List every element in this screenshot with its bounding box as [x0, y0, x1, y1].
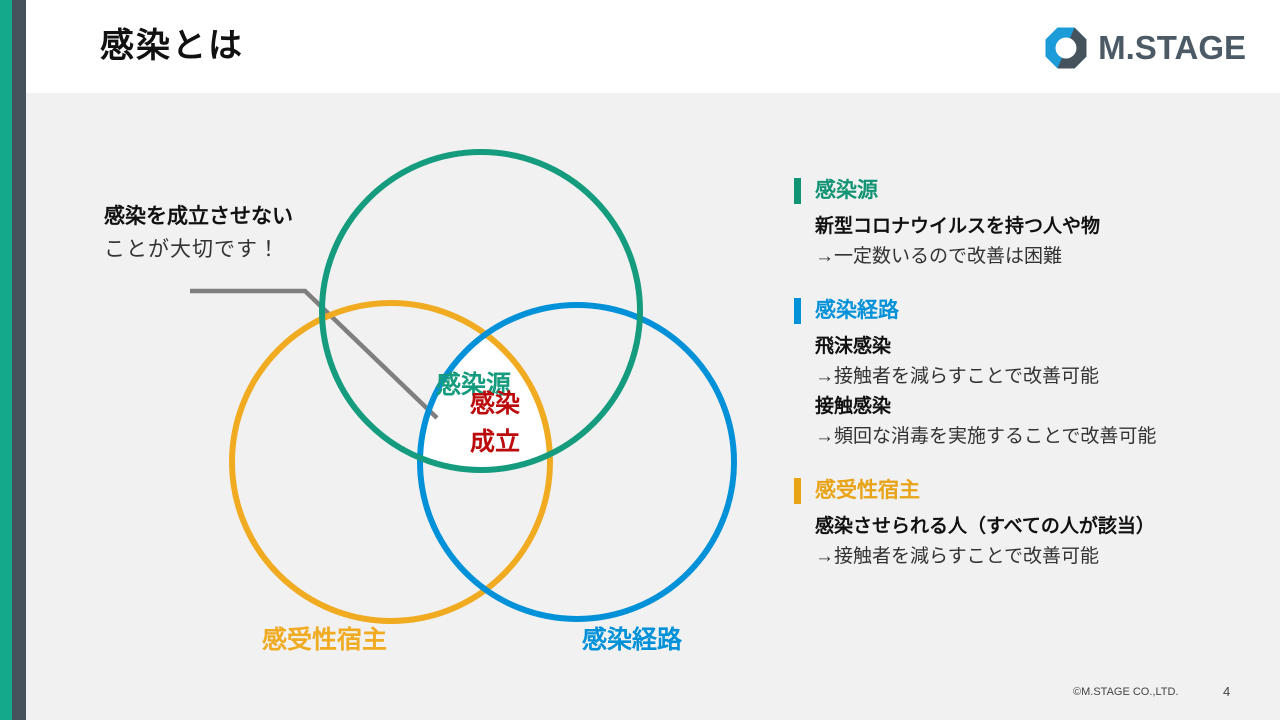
left-edge-accent-slate	[12, 0, 26, 720]
accent-bar-icon	[794, 178, 801, 204]
accent-bar-icon	[794, 478, 801, 504]
venn-label-route: 感染経路	[582, 620, 682, 656]
section-item-sub: →一定数いるので改善は困難	[794, 242, 1264, 272]
section-item-strong: 感染させられる人（すべての人が該当）	[794, 512, 1264, 542]
brand-logo: M.STAGE	[1044, 26, 1246, 70]
callout-line-1: 感染を成立させない	[104, 200, 364, 233]
section-title: 感染源	[815, 178, 878, 204]
footer-page-number: 4	[1223, 684, 1230, 699]
section-title: 感染経路	[815, 298, 899, 324]
panel-section-route: 感染経路 飛沫感染 →接触者を減らすことで改善可能 接触感染 →頻回な消毒を実施…	[794, 298, 1264, 452]
venn-center-line-1: 感染	[445, 385, 545, 423]
callout-line-2: ことが大切です！	[104, 233, 364, 266]
section-item-strong: 飛沫感染	[794, 332, 1264, 362]
callout-text: 感染を成立させない ことが大切です！	[104, 200, 364, 266]
panel-section-host: 感受性宿主 感染させられる人（すべての人が該当） →接触者を減らすことで改善可能	[794, 478, 1264, 572]
section-item-strong: 新型コロナウイルスを持つ人や物	[794, 212, 1264, 242]
accent-bar-icon	[794, 298, 801, 324]
section-title: 感受性宿主	[815, 478, 920, 504]
section-heading: 感染経路	[794, 298, 1264, 324]
venn-label-host: 感受性宿主	[262, 620, 387, 656]
info-panel: 感染源 新型コロナウイルスを持つ人や物 →一定数いるので改善は困難 感染経路 飛…	[794, 178, 1264, 598]
venn-center-line-2: 成立	[445, 423, 545, 461]
section-item-sub: →接触者を減らすことで改善可能	[794, 542, 1264, 572]
section-heading: 感受性宿主	[794, 478, 1264, 504]
section-item-sub: →接触者を減らすことで改善可能	[794, 362, 1264, 392]
slide-header: 感染とは M.STAGE	[26, 0, 1280, 93]
section-item-strong: 接触感染	[794, 392, 1264, 422]
octagon-logo-icon	[1044, 26, 1088, 70]
brand-logo-text: M.STAGE	[1098, 26, 1246, 70]
section-heading: 感染源	[794, 178, 1264, 204]
left-edge-accent-teal	[0, 0, 12, 720]
callout-connector-line	[190, 291, 437, 418]
page-title: 感染とは	[100, 22, 244, 70]
footer-copyright: ©M.STAGE CO.,LTD.	[1073, 686, 1178, 698]
slide: 感染とは M.STAGE	[0, 0, 1280, 720]
venn-center-label: 感染 成立	[445, 385, 545, 461]
section-item-sub: →頻回な消毒を実施することで改善可能	[794, 422, 1264, 452]
panel-section-source: 感染源 新型コロナウイルスを持つ人や物 →一定数いるので改善は困難	[794, 178, 1264, 272]
